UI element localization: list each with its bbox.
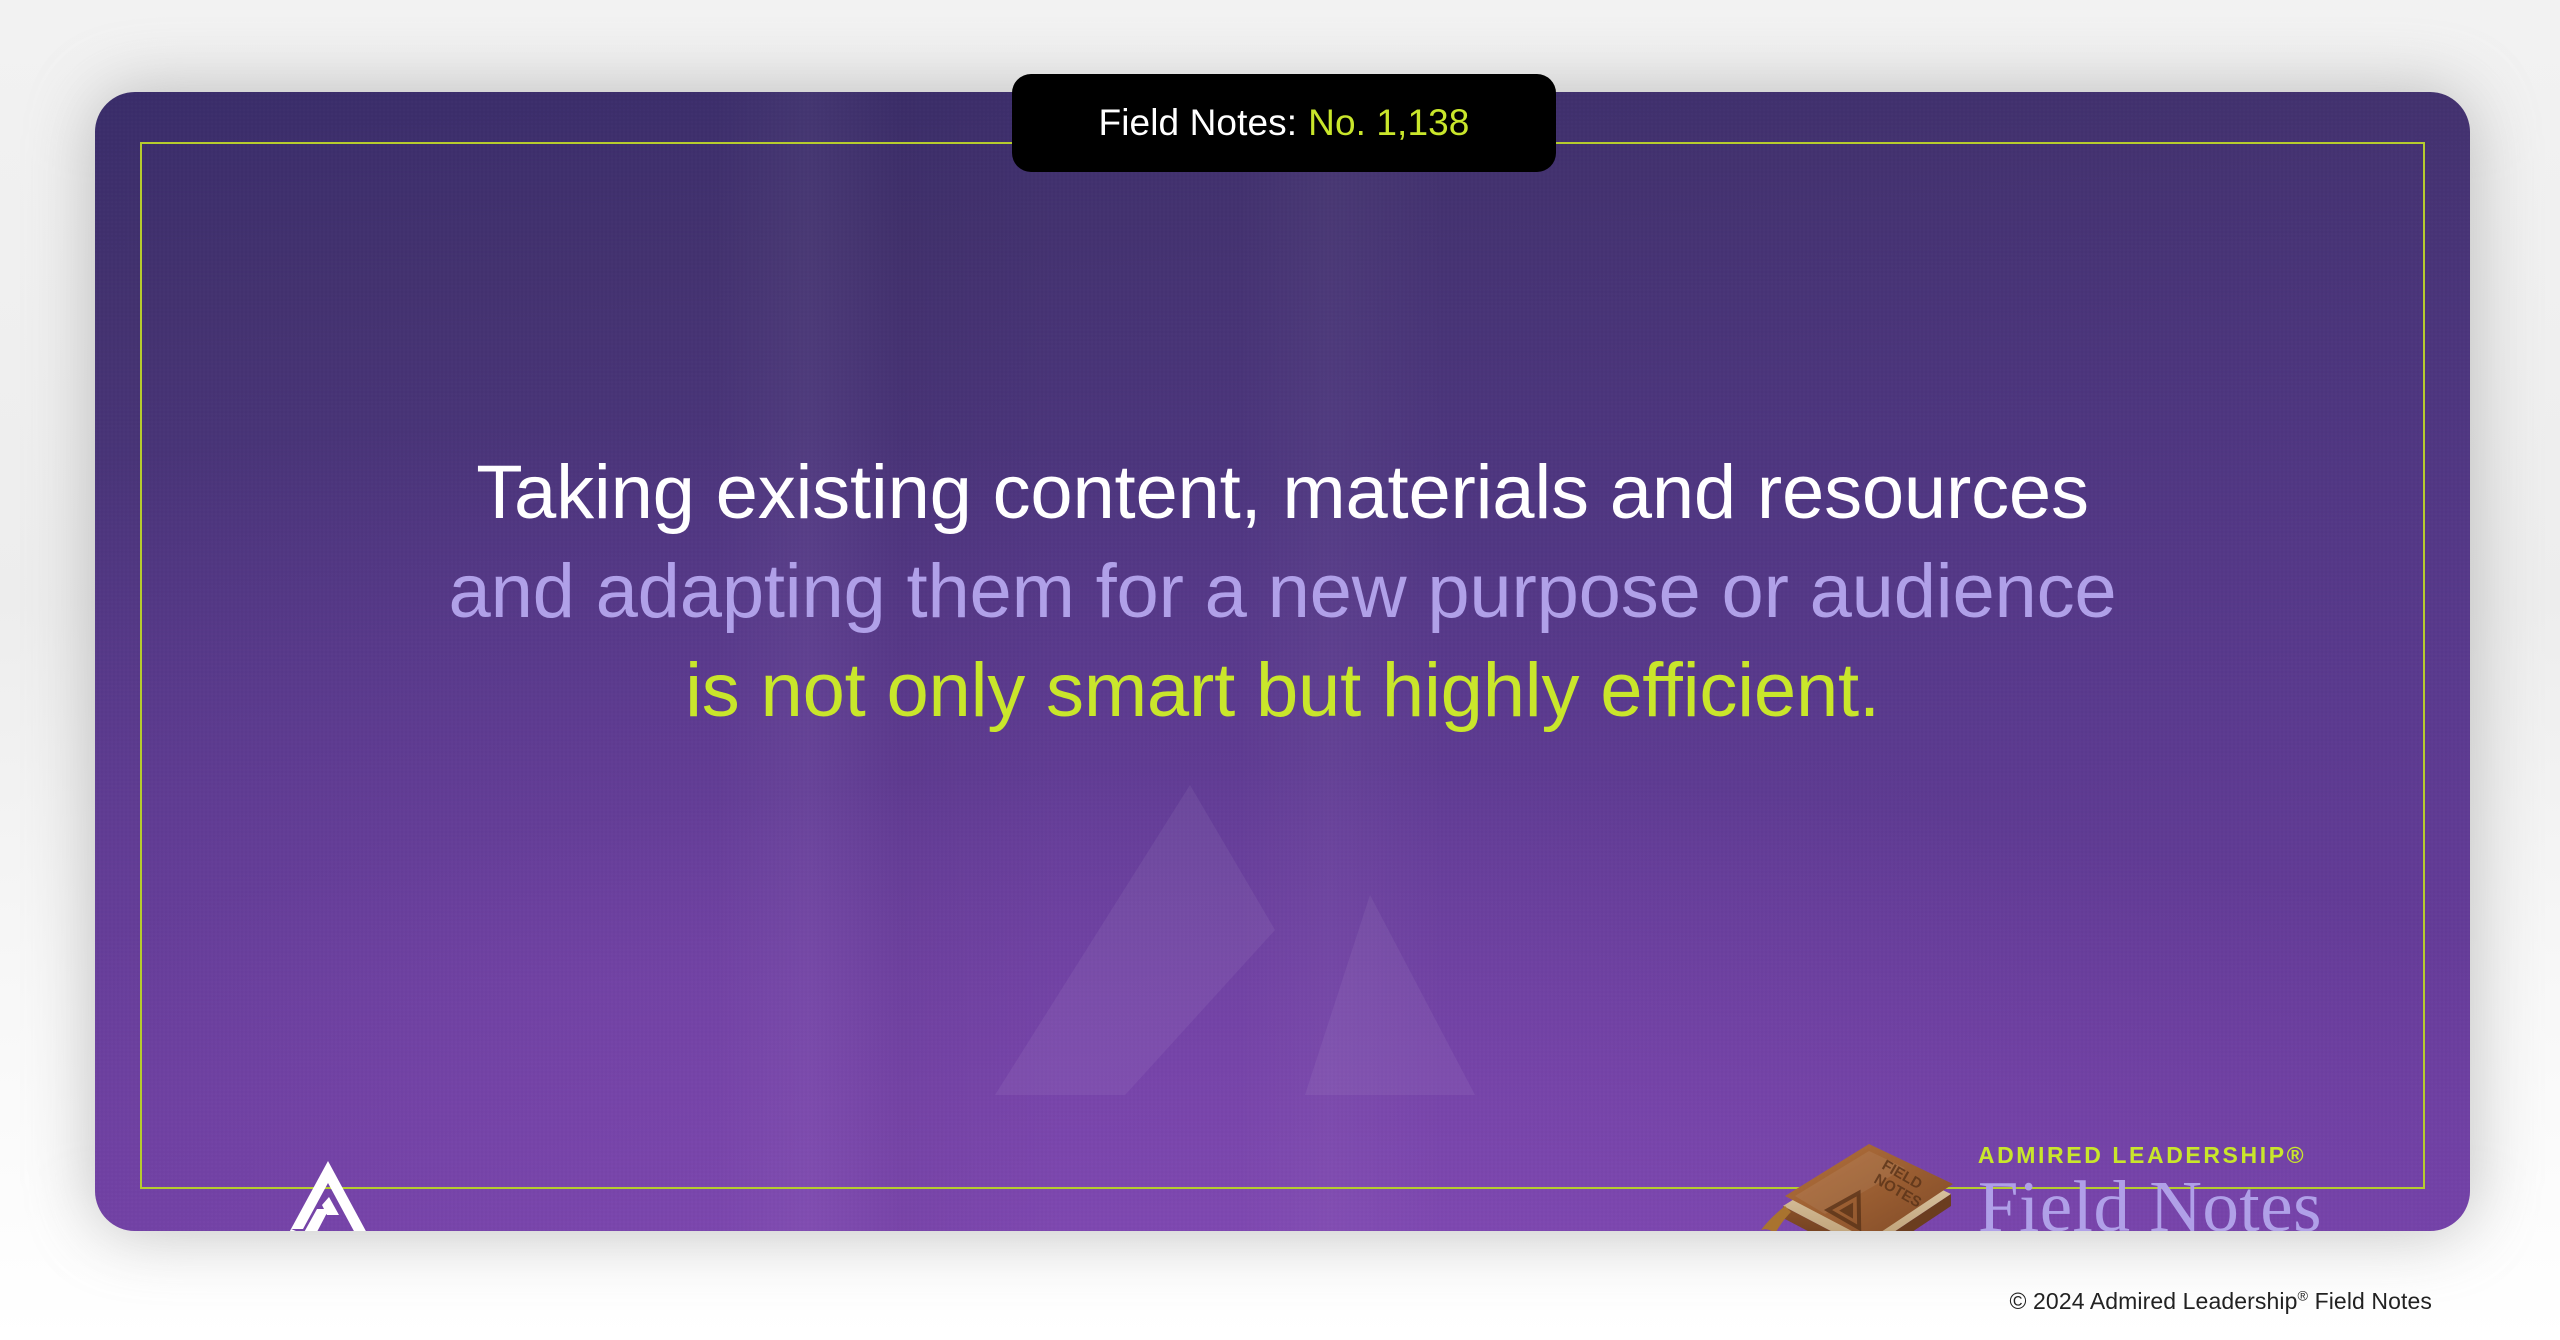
admired-leadership-logo-icon — [273, 1157, 383, 1231]
quote-text-block: Taking existing content, materials and r… — [95, 444, 2470, 740]
page-background: Taking existing content, materials and r… — [0, 0, 2560, 1340]
badge-number: No. 1,138 — [1308, 102, 1469, 144]
brand-lockup: FIELD NOTES ADMIRED LEADERSHIP® Field No… — [1755, 1110, 2322, 1231]
badge-label: Field Notes: — [1099, 102, 1298, 144]
quote-card: Taking existing content, materials and r… — [95, 92, 2470, 1231]
copyright-footer: © 2024 Admired Leadership® Field Notes — [2010, 1288, 2433, 1315]
field-notes-notebook-icon: FIELD NOTES — [1755, 1110, 1960, 1231]
quote-line-2: and adapting them for a new purpose or a… — [95, 543, 2470, 642]
field-notes-number-badge: Field Notes: No. 1,138 — [1012, 74, 1556, 172]
registered-mark: ® — [2297, 1288, 2308, 1304]
copyright-text-before: © 2024 Admired Leadership — [2010, 1288, 2298, 1314]
quote-line-1: Taking existing content, materials and r… — [95, 444, 2470, 543]
quote-line-3: is not only smart but highly efficient. — [95, 642, 2470, 741]
brand-title: Field Notes — [1978, 1171, 2322, 1231]
triangle-watermark — [975, 775, 1495, 1105]
brand-kicker: ADMIRED LEADERSHIP® — [1978, 1142, 2322, 1169]
copyright-text-after: Field Notes — [2308, 1288, 2432, 1314]
brand-text-group: ADMIRED LEADERSHIP® Field Notes — [1978, 1142, 2322, 1231]
